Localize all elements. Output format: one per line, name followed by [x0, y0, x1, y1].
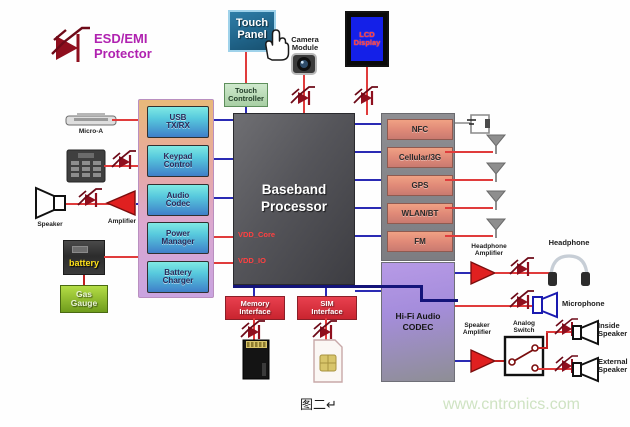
- esd-emi-legend: ESD/EMI Protector: [48, 22, 92, 68]
- wire-baseband-gps: [355, 179, 381, 181]
- wire-usb-baseband: [214, 119, 234, 121]
- battery-label: battery: [64, 258, 104, 268]
- inside-speaker-icon: [572, 320, 600, 345]
- wire-power-baseband: [214, 236, 234, 238]
- analog-switch-icon[interactable]: [504, 336, 544, 376]
- battery-block: battery: [63, 240, 105, 275]
- audio-codec-block[interactable]: Audio Codec: [147, 184, 209, 216]
- keypad-icon: [67, 150, 105, 182]
- lcd-display-block[interactable]: LCD Display: [345, 11, 389, 67]
- vdd-io-label: VDD_IO: [238, 256, 266, 265]
- microsd-card-icon: [240, 339, 272, 381]
- esd-emi-legend-label: ESD/EMI Protector: [94, 32, 152, 61]
- nfc-block[interactable]: NFC: [387, 119, 453, 140]
- wire-battery-power: [104, 256, 140, 258]
- wire-switch-inside-v: [546, 331, 548, 348]
- esd-protector-icon-camera: [287, 84, 317, 110]
- bottom-bus-to-codec: [420, 299, 458, 302]
- hifi-audio-codec-block[interactable]: Hi-Fi Audio CODEC: [381, 262, 455, 382]
- microphone-icon: [532, 292, 560, 318]
- memory-interface-block[interactable]: Memory Interface: [225, 296, 285, 320]
- speaker-label: Speaker: [30, 221, 70, 228]
- power-manager-block[interactable]: Power Manager: [147, 222, 209, 254]
- keypad-control-block[interactable]: Keypad Control: [147, 145, 209, 177]
- wire-baseband-codec: [355, 290, 381, 292]
- wire-batterycharger-baseband: [214, 262, 234, 264]
- esd-protector-icon-lcd: [350, 84, 380, 110]
- headphone-label: Headphone: [540, 239, 598, 247]
- fm-block[interactable]: FM: [387, 231, 453, 252]
- esd-protector-icon-headphone: [506, 255, 536, 281]
- antenna-icon-cellular: [485, 134, 507, 154]
- external-speaker-icon: [572, 357, 600, 382]
- speaker-amplifier-label: Speaker Amplifier: [452, 322, 502, 336]
- tvs-diode-icon: [48, 22, 92, 68]
- micro-a-connector-icon: [64, 113, 118, 127]
- speaker-amplifier-icon: [469, 349, 497, 373]
- wire-baseband-fm: [355, 235, 381, 237]
- esd-protector-icon-keypad: [108, 148, 138, 174]
- camera-module-icon: [291, 52, 317, 76]
- speaker-icon: [34, 186, 70, 220]
- wire-touchpanel-controller: [245, 52, 247, 83]
- micro-a-label: Micro-A: [67, 128, 115, 135]
- bottom-bus: [233, 285, 423, 288]
- microphone-label: Microphone: [562, 300, 624, 308]
- baseband-processor-label: Baseband Processor: [261, 182, 327, 216]
- vdd-core-label: VDD_Core: [238, 230, 275, 239]
- hifi-audio-codec-label: Hi-Fi Audio CODEC: [395, 311, 440, 334]
- site-watermark: www.cntronics.com: [443, 396, 580, 414]
- peripheral-interface-container: USB TX/RX Keypad Control Audio Codec Pow…: [138, 99, 214, 298]
- camera-module-label: Camera Module: [279, 36, 331, 53]
- lcd-screen: LCD Display: [351, 17, 383, 61]
- headphone-amplifier-icon: [469, 261, 497, 285]
- rf-block-container: NFC Cellular/3G GPS WLAN/BT FM: [381, 113, 455, 261]
- wire-keypad-baseband: [214, 158, 234, 160]
- sim-interface-block[interactable]: SIM Interface: [297, 296, 357, 320]
- sim-card-icon: [312, 339, 344, 383]
- gps-block[interactable]: GPS: [387, 175, 453, 196]
- antenna-icon-gps: [485, 162, 507, 182]
- wire-baseband-wlanbt: [355, 207, 381, 209]
- wlan-bt-block[interactable]: WLAN/BT: [387, 203, 453, 224]
- antenna-icon-wlanbt: [485, 190, 507, 210]
- battery-terminal-icon: [72, 246, 88, 253]
- wire-battery-gasgauge: [83, 275, 85, 285]
- analog-switch-label: Analog Switch: [500, 320, 548, 334]
- wire-usb: [112, 119, 140, 121]
- esd-protector-icon-speaker: [74, 186, 104, 212]
- antenna-icon-fm: [485, 218, 507, 238]
- amplifier-icon-speaker: [105, 190, 137, 216]
- inside-speaker-label: Inside Speaker: [598, 322, 630, 339]
- headphone-icon: [546, 252, 592, 284]
- block-diagram-canvas: ESD/EMI Protector Touch Panel Touch Cont…: [0, 0, 630, 427]
- lcd-display-label: LCD Display: [354, 31, 381, 48]
- figure-caption: 图二↵: [300, 394, 337, 413]
- wire-baseband-nfc: [355, 123, 381, 125]
- wire-baseband-cellular: [355, 151, 381, 153]
- usb-txrx-block[interactable]: USB TX/RX: [147, 106, 209, 138]
- touch-controller-block[interactable]: Touch Controller: [224, 83, 268, 107]
- gas-gauge-block: Gas Gauge: [60, 285, 108, 313]
- wire-audiocodec-baseband: [214, 197, 234, 199]
- cellular-3g-block[interactable]: Cellular/3G: [387, 147, 453, 168]
- battery-charger-block[interactable]: Battery Charger: [147, 261, 209, 293]
- external-speaker-label: External Speaker: [598, 358, 630, 375]
